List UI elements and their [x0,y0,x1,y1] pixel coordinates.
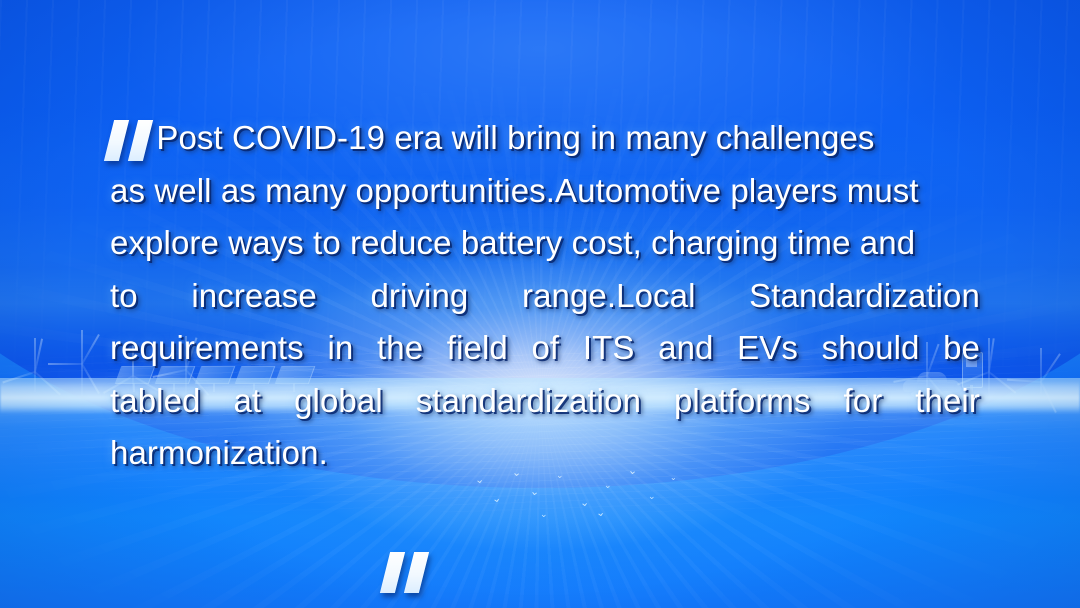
quote-word: and [658,322,713,375]
quote-word: in [327,322,353,375]
quote-line-2: as well as many opportunities.Automotive… [110,165,980,218]
quote-block: Post COVID-19 era will bring in many cha… [110,112,980,480]
quote-word: the [377,322,423,375]
quote-word: tabled [110,375,201,428]
quote-word: platforms [674,375,811,428]
quote-word: driving [370,270,468,323]
quote-line-6: tabled at global standardization platfor… [110,375,980,428]
quote-word: ITS [583,322,635,375]
quote-word: at [233,375,261,428]
quote-word: to [110,270,138,323]
quote-word: should [822,322,920,375]
quote-word: increase [191,270,317,323]
quote-line-3: explore ways to reduce battery cost, cha… [110,217,980,270]
quote-word: requirements [110,322,304,375]
quote-word: be [943,322,980,375]
quote-word: field [447,322,508,375]
quote-word: Standardization [749,270,980,323]
quote-word: range.Local [522,270,696,323]
quote-line-7: harmonization. [110,427,980,480]
quote-word: standardization [416,375,641,428]
quote-line-1: Post COVID-19 era will bring in many cha… [110,112,980,165]
closing-quote-mark [385,552,424,593]
quote-word: EVs [737,322,798,375]
quote-line-4: to increase driving range.Local Standard… [110,270,980,323]
quote-word: their [915,375,980,428]
quote-word: global [294,375,383,428]
quote-slide: ⌄ ⌄ ⌄ ⌄ ⌄ ⌄ ⌄ ⌄ ⌄ ⌄ ⌄ ⌄ Post COVID-19 er… [0,0,1080,608]
quote-word: for [843,375,882,428]
quote-line-5: requirements in the field of ITS and EVs… [110,322,980,375]
quote-word: of [531,322,559,375]
